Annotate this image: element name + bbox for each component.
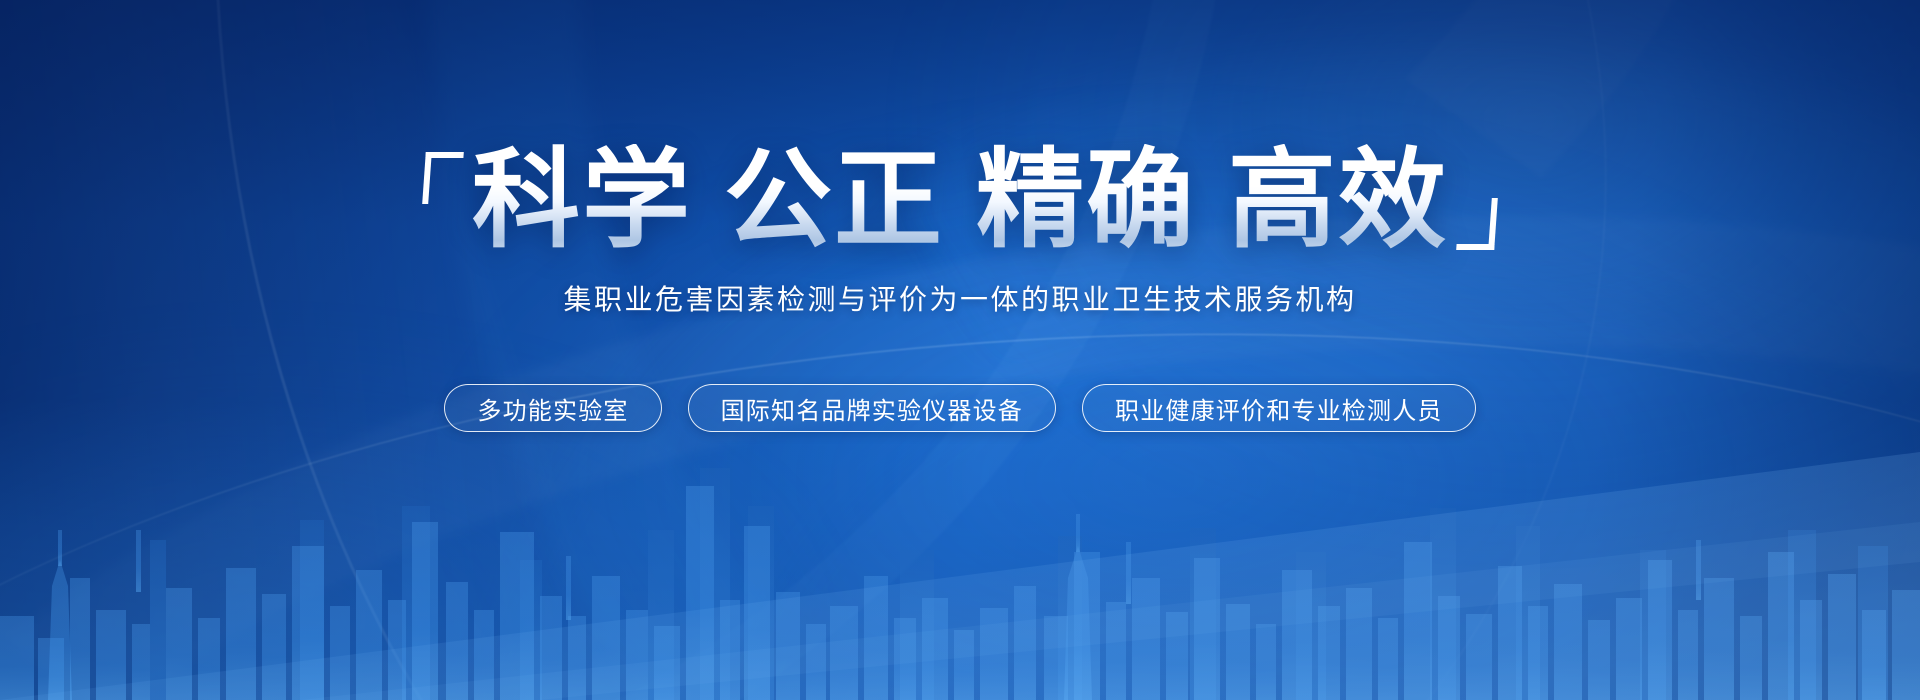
banner-content: 科学 公正 精确 高效 集职业危害因素检测与评价为一体的职业卫生技术服务机构 多… xyxy=(0,0,1920,700)
feature-pill-staff[interactable]: 职业健康评价和专业检测人员 xyxy=(1082,384,1476,432)
bracket-open-icon xyxy=(422,152,464,204)
headline-block: 科学 公正 精确 高效 xyxy=(424,144,1496,256)
page-title: 科学 公正 精确 高效 xyxy=(472,144,1448,256)
banner-subtitle: 集职业危害因素检测与评价为一体的职业卫生技术服务机构 xyxy=(563,278,1356,318)
bracket-close-icon xyxy=(1456,198,1498,250)
feature-pill-lab[interactable]: 多功能实验室 xyxy=(444,384,661,432)
feature-pill-group: 多功能实验室 国际知名品牌实验仪器设备 职业健康评价和专业检测人员 xyxy=(444,384,1475,432)
feature-pill-equipment[interactable]: 国际知名品牌实验仪器设备 xyxy=(688,384,1056,432)
hero-banner: 科学 公正 精确 高效 集职业危害因素检测与评价为一体的职业卫生技术服务机构 多… xyxy=(0,0,1920,700)
